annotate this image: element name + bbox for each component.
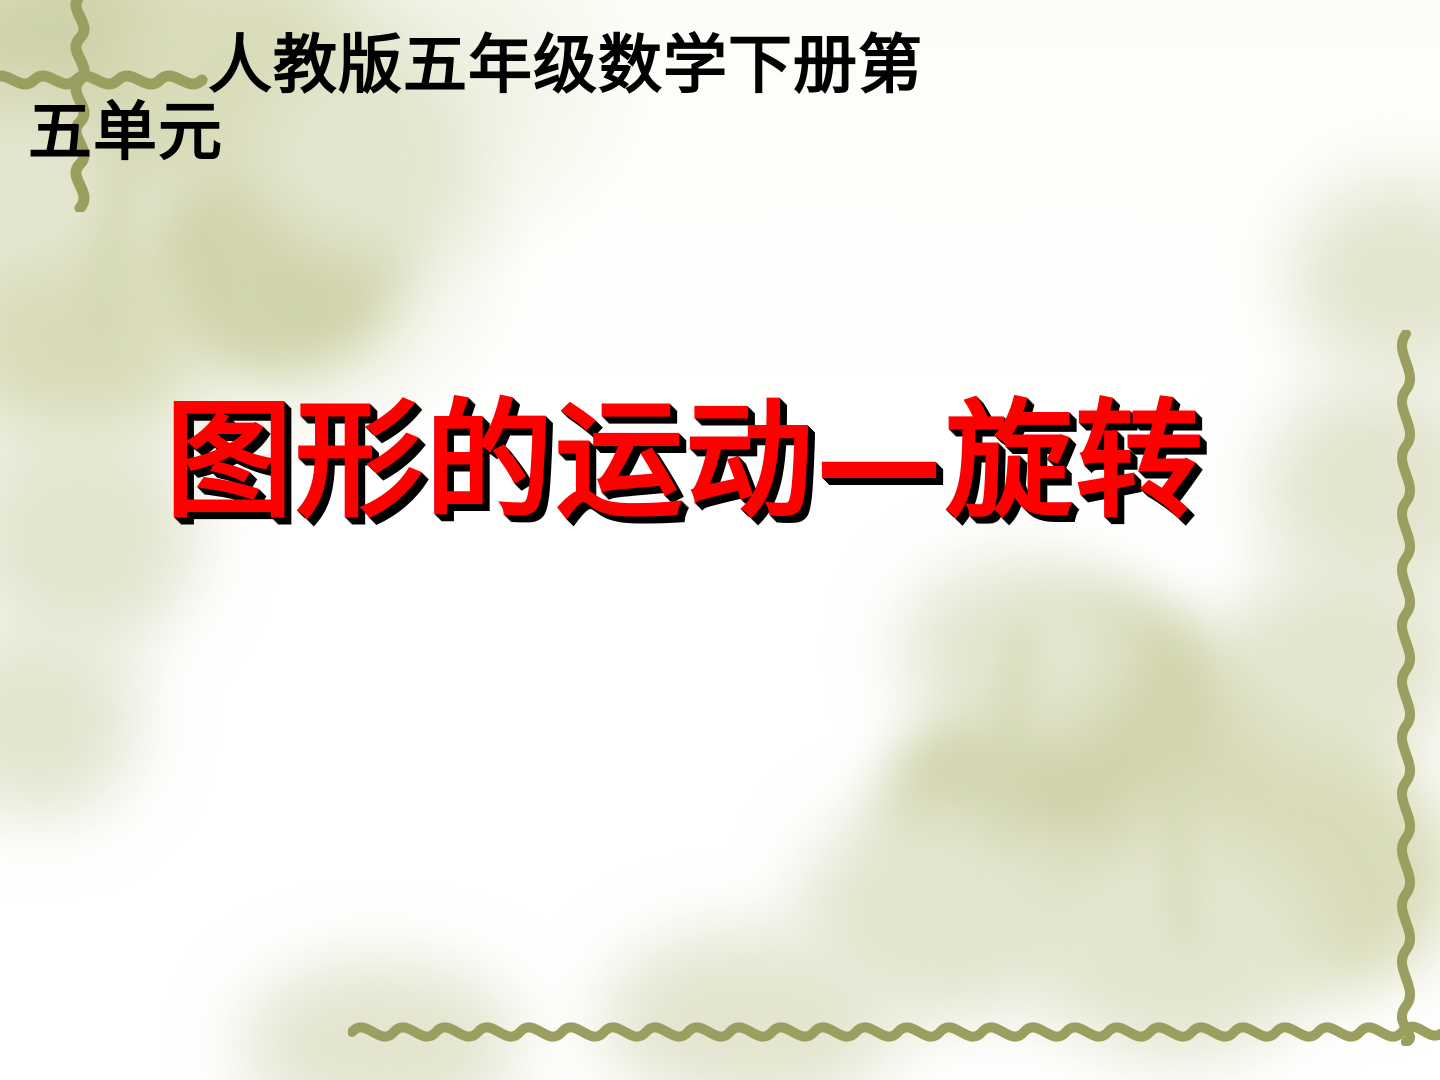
floral-stem (215, 200, 276, 370)
floral-blob (1020, 830, 1320, 1060)
slide-title: 图形的运动—旋转 (165, 398, 1265, 526)
floral-stem (1152, 700, 1198, 951)
floral-blob (1200, 760, 1440, 990)
floral-blob (0, 220, 190, 440)
floral-blob (1110, 640, 1390, 900)
floral-blob (980, 590, 1220, 790)
floral-blob (240, 960, 520, 1080)
floral-blob (150, 170, 400, 370)
wavy-vine-vertical-right (1380, 330, 1432, 1046)
floral-blob (600, 930, 900, 1080)
floral-stem (988, 619, 1034, 850)
floral-blob (800, 800, 1080, 1020)
floral-blob (1290, 180, 1440, 380)
presentation-slide: 人教版五年级数学下册第五单元 图形的运动—旋转 (0, 0, 1440, 1080)
slide-heading: 人教版五年级数学下册第五单元 (28, 32, 958, 166)
floral-blob (1230, 560, 1440, 760)
floral-blob (1260, 380, 1440, 600)
floral-blob (900, 560, 1140, 740)
floral-blob (880, 690, 1180, 940)
floral-stem (81, 159, 136, 371)
wavy-vine-horizontal-bottom (348, 1008, 1440, 1056)
floral-blob (0, 620, 140, 820)
